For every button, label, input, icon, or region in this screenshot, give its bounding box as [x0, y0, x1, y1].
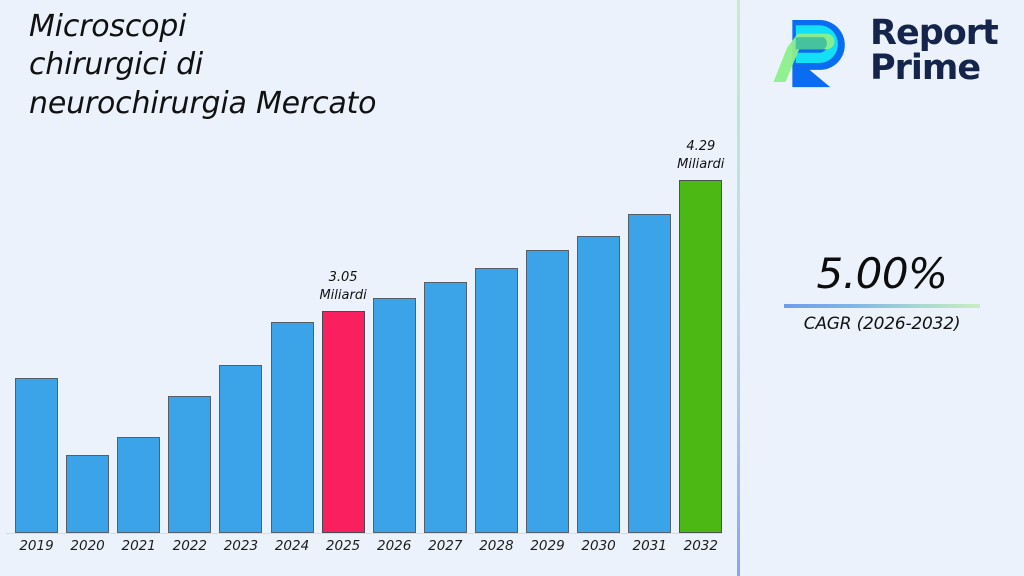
chart-panel: Microscopi chirurgici di neurochirurgia … — [0, 0, 738, 576]
bar-2026 — [373, 298, 416, 533]
bar-2031 — [628, 214, 671, 533]
bar-2030 — [577, 236, 620, 533]
brand-panel: Report Prime 5.00% CAGR (2026-2032) — [740, 0, 1024, 576]
brand-name-line2: Prime — [870, 51, 998, 86]
bar-2032 — [679, 180, 722, 533]
bar-2024 — [271, 322, 314, 533]
report-prime-monogram-icon — [770, 8, 856, 94]
brand-name-line1: Report — [870, 16, 998, 51]
x-tick-2032: 2032 — [656, 538, 746, 554]
bar-2021 — [117, 437, 160, 533]
x-axis-line — [6, 533, 722, 534]
bar-value-label-2032: 4.29 Miliardi — [656, 138, 746, 173]
cagr-block: 5.00% CAGR (2026-2032) — [740, 252, 1024, 334]
cagr-divider-rule — [784, 304, 980, 308]
bar-2019 — [15, 378, 58, 533]
bar-2027 — [424, 282, 467, 533]
brand-wordmark: Report Prime — [870, 16, 998, 86]
bar-value-label-2025: 3.05 Miliardi — [298, 269, 388, 304]
cagr-caption: CAGR (2026-2032) — [740, 314, 1024, 334]
chart-infographic-page: Microscopi chirurgici di neurochirurgia … — [0, 0, 1024, 576]
report-prime-logo: Report Prime — [770, 8, 998, 94]
bar-2023 — [219, 365, 262, 533]
bar-chart-plot-area: 3.05 Miliardi4.29 Miliardi 2019202020212… — [0, 0, 738, 576]
cagr-value: 5.00% — [740, 252, 1024, 296]
bar-2022 — [168, 396, 211, 533]
bar-2029 — [526, 250, 569, 533]
bar-2028 — [475, 268, 518, 533]
bar-2020 — [66, 455, 109, 533]
bar-2025 — [322, 311, 365, 533]
